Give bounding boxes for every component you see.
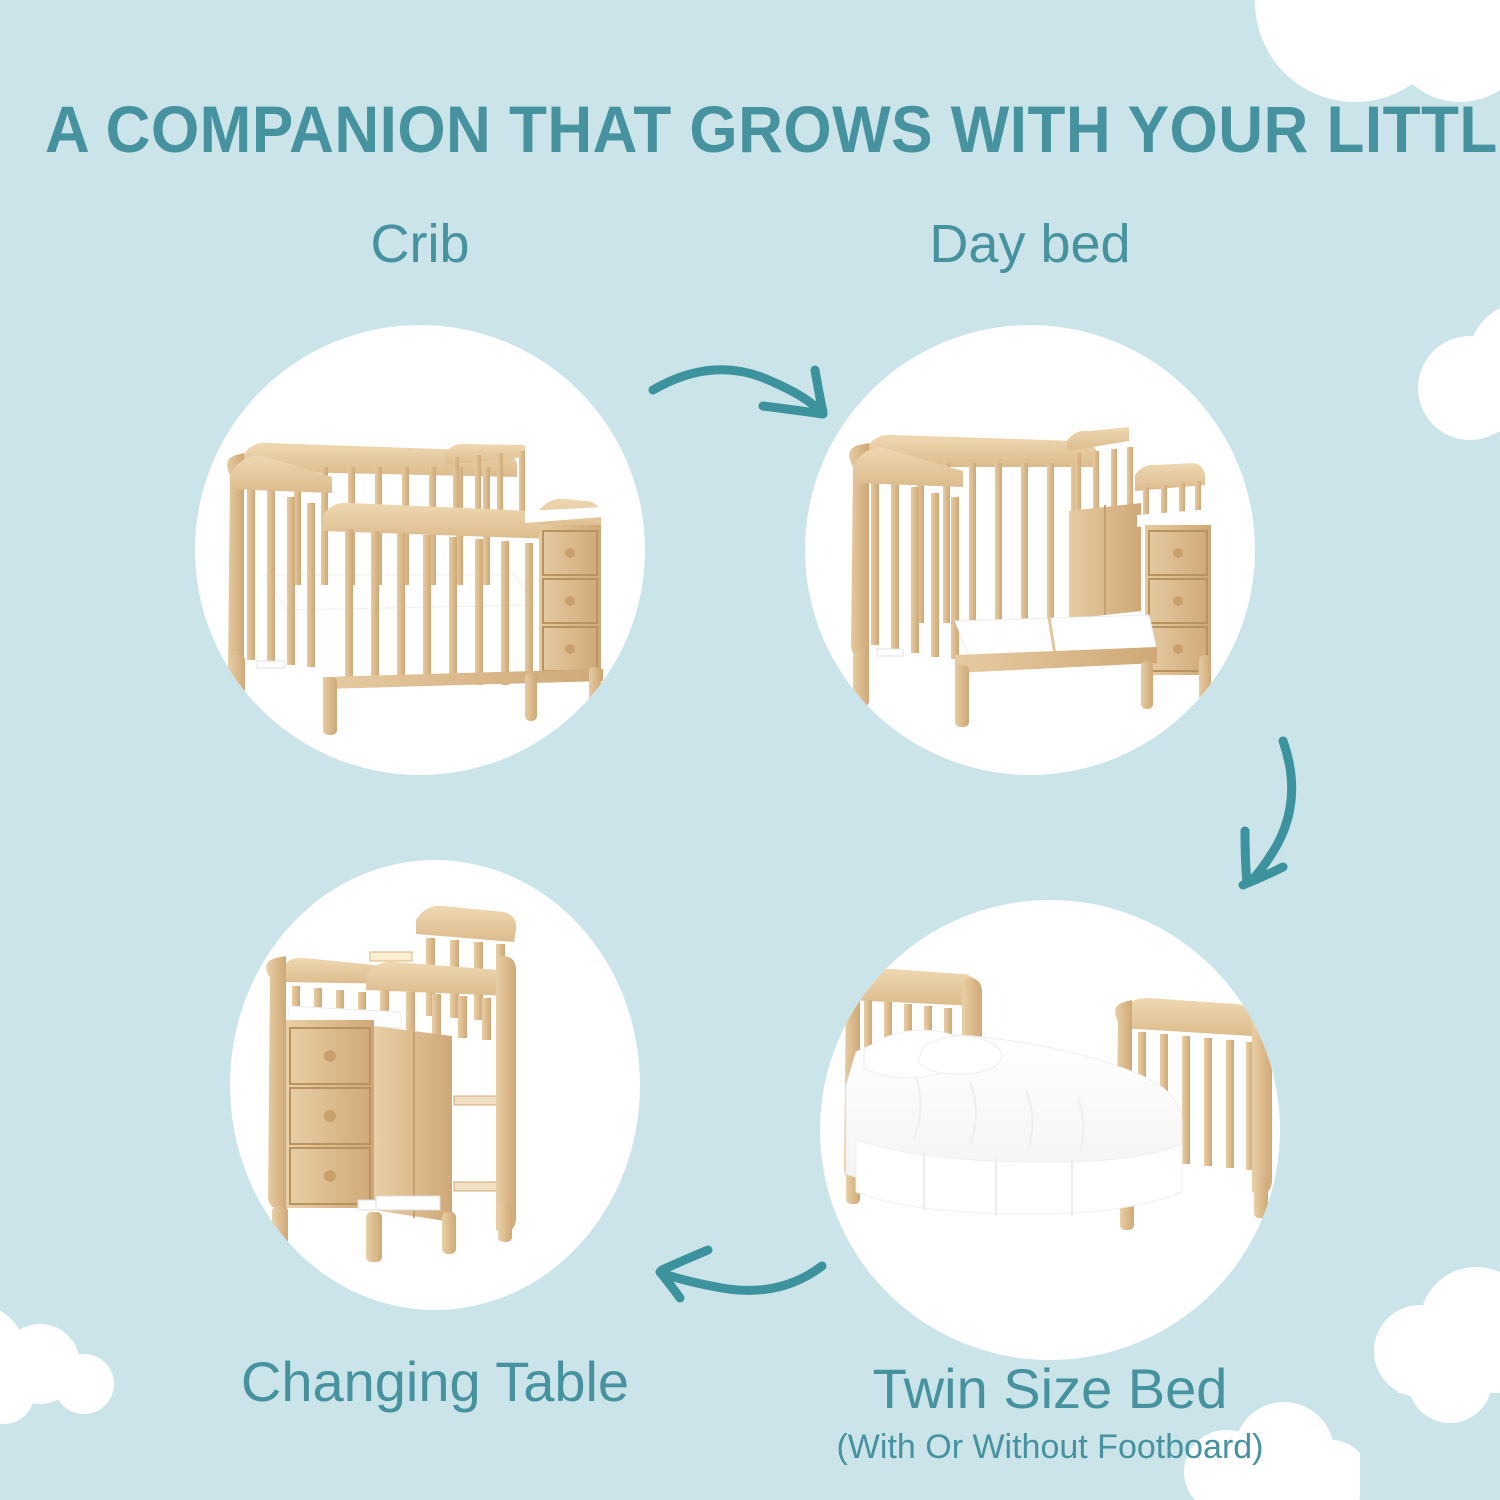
stage-changing-table-label: Changing Table	[185, 1353, 685, 1411]
cloud-icon	[1338, 1265, 1500, 1445]
stage-twin-bed-sublabel: (With Or Without Footboard)	[795, 1428, 1305, 1466]
day-bed-and-changer-photo	[805, 325, 1255, 775]
stage-crib: Crib	[155, 215, 685, 785]
infographic-canvas: A COMPANION THAT GROWS WITH YOUR LITTLE …	[0, 0, 1500, 1500]
twin-size-bed-photo	[820, 900, 1280, 1360]
cloud-icon	[1418, 300, 1500, 440]
stage-crib-label: Crib	[155, 215, 685, 273]
changing-table-photo	[230, 860, 640, 1310]
stage-daybed-label: Day bed	[765, 215, 1295, 273]
cloud-icon	[0, 1302, 132, 1432]
stage-daybed: Day bed	[765, 215, 1295, 785]
page-title: A COMPANION THAT GROWS WITH YOUR LITTLE …	[45, 92, 1455, 166]
stage-changing-table: Changing Table	[185, 860, 685, 1480]
stage-twin-bed: Twin Size Bed (With Or Without Footboard…	[795, 900, 1305, 1500]
stage-twin-bed-label: Twin Size Bed	[795, 1360, 1305, 1418]
crib-and-changer-photo	[195, 325, 645, 775]
